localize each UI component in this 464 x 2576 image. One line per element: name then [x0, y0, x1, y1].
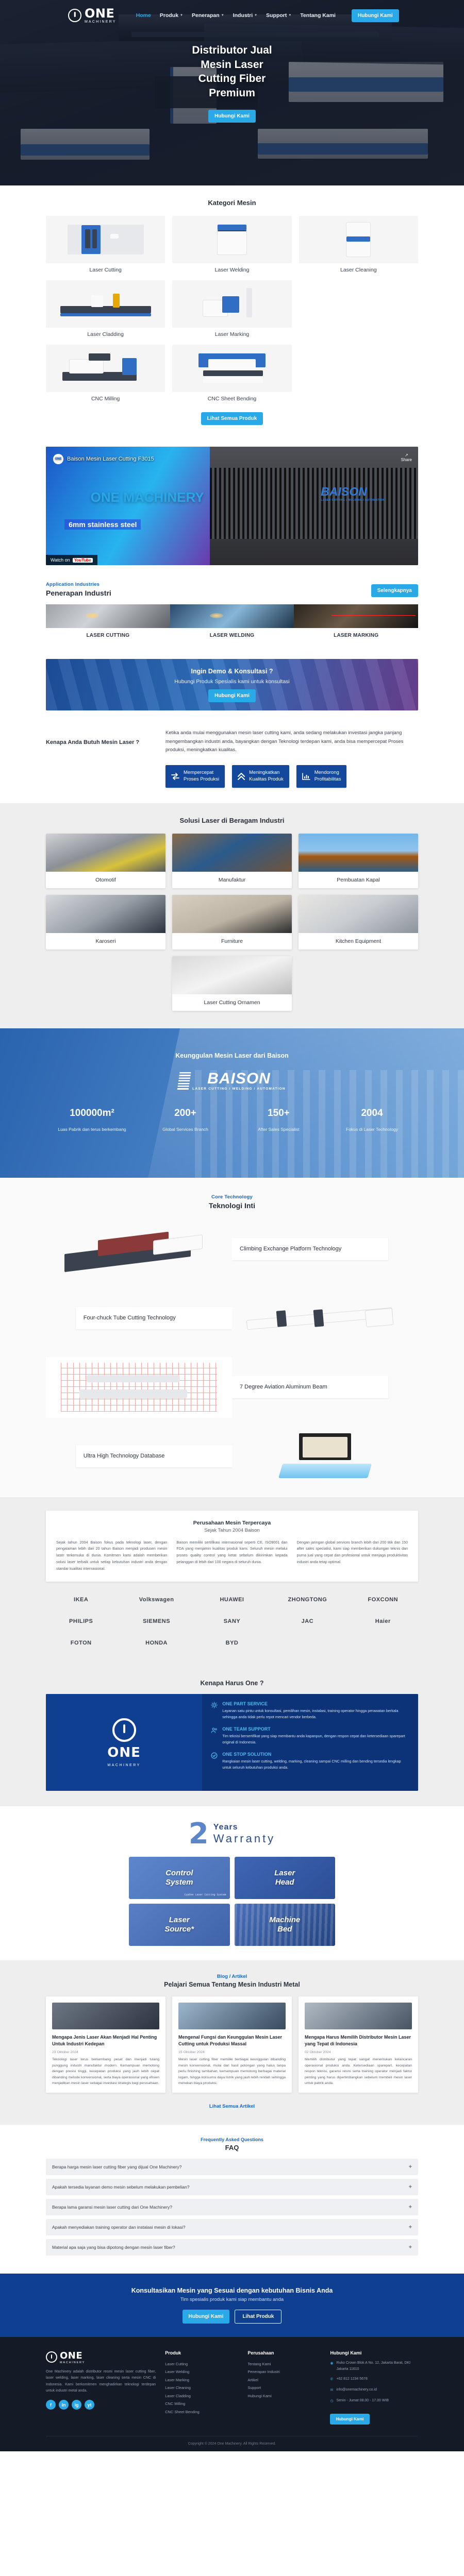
warranty-card-caption: CypOne Laser Cutting System [184, 1893, 226, 1896]
solutions-title: Solusi Laser di Beragam Industri [46, 817, 418, 824]
application-grid: LASER CUTTING LASER WELDING LASER MARKIN… [46, 604, 418, 638]
blog-image [305, 2003, 412, 2029]
category-label: Laser Welding [172, 267, 291, 273]
brand-logo: Volkswagen [121, 1593, 191, 1606]
baison-name: BAISON [192, 1072, 286, 1086]
benefit-chip[interactable]: MendorongProfitabilitas [296, 765, 347, 788]
application-card[interactable]: LASER CUTTING [46, 604, 170, 638]
tech-row: 7 Degree Aviation Aluminum Beam [46, 1357, 418, 1418]
footer-phone: +62 812 1234 5678 [336, 2376, 368, 2383]
feature-item: ONE STOP SOLUTION Rangkaian mesin laser … [210, 1752, 410, 1771]
stat-item: 100000m² Luas Pabrik dan terus berkemban… [45, 1108, 139, 1133]
facebook-icon[interactable]: f [46, 2400, 56, 2410]
site-footer: ONE MACHINERY One Machinery adalah distr… [0, 2337, 464, 2451]
feature-item: ONE TEAM SUPPORT Tim teknisi bersertifik… [210, 1726, 410, 1745]
categories-title: Kategori Mesin [46, 199, 418, 207]
video-section: ONE Baison Mesin Laser Cutting F3015 ONE… [0, 438, 464, 577]
category-image [172, 280, 291, 328]
view-all-products-button[interactable]: Lihat Semua Produk [201, 412, 263, 425]
blog-post-excerpt: Teknologi laser terus berkembang pesat d… [52, 2057, 159, 2087]
faq-item[interactable]: Berapa harga mesin laser cutting fiber y… [46, 2159, 418, 2175]
footer-link[interactable]: CNC Sheet Bending [165, 2408, 238, 2416]
footer-company-column: Perusahaan Tentang Kami Penerapan Indust… [247, 2350, 321, 2425]
main-navigation: ONE MACHINERY Home Produk▼ Penerapan▼ In… [0, 0, 464, 24]
stat-label: After Sales Specialist [232, 1126, 325, 1133]
nav-item-industri[interactable]: Industri▼ [233, 12, 257, 19]
blog-card[interactable]: Mengenal Fungsi dan Keunggulan Mesin Las… [172, 1996, 292, 2093]
feature-item: ONE PART SERVICE Layanan satu pintu untu… [210, 1701, 410, 1720]
power-button-icon [112, 1718, 136, 1742]
warranty-number: 2 [189, 1822, 209, 1846]
warranty-headline: 2 Years Warranty [0, 1822, 464, 1846]
faq-eyebrow: Frequently Asked Questions [46, 2137, 418, 2142]
site-logo[interactable]: ONE MACHINERY [68, 7, 117, 24]
application-more-button[interactable]: Selengkapnya [371, 584, 418, 597]
brand-logo: SIEMENS [121, 1615, 191, 1628]
brand-logo: HUAWEI [197, 1593, 267, 1606]
certification-section: Perusahaan Mesin Terpercaya Sejak Tahun … [0, 1497, 464, 1667]
category-image [299, 216, 418, 263]
demo-subtext: Hubungi Produk Spesialis kami untuk kons… [174, 679, 290, 685]
feature-heading: ONE PART SERVICE [222, 1701, 410, 1706]
footer-hours: Senin - Jumat 08.00 - 17.00 WIB [337, 2398, 389, 2404]
faq-item[interactable]: Apakah tersedia layanan demo mesin sebel… [46, 2179, 418, 2195]
tech-row: Four-chuck Tube Cutting Technology [46, 1288, 418, 1349]
footer-logo[interactable]: ONE MACHINERY [46, 2350, 156, 2364]
faq-question: Material apa saja yang bisa dipotong den… [52, 2245, 175, 2250]
why-one-logo-name: ONE [107, 1745, 141, 1760]
video-brand-overlay: BAISON LASER CUTTING / WELDING / AUTOMAT… [321, 485, 385, 502]
warranty-card[interactable]: LaserHead [235, 1857, 336, 1899]
stat-item: 200+ Global Services Branch [139, 1108, 232, 1133]
video-title: ONE Baison Mesin Laser Cutting F3015 [53, 454, 154, 464]
chevron-down-icon: ▼ [288, 14, 291, 17]
footer-link[interactable]: Hubungi Kami [247, 2392, 321, 2400]
solution-image [172, 834, 292, 872]
stats-row: 100000m² Luas Pabrik dan terus berkemban… [0, 1108, 464, 1133]
core-tech-eyebrow: Core Technology [46, 1194, 418, 1200]
footer-link[interactable]: Penerapan Industri [247, 2368, 321, 2376]
category-label: CNC Sheet Bending [172, 396, 291, 402]
blog-card[interactable]: Mengapa Jenis Laser Akan Menjadi Hal Pen… [46, 1996, 165, 2093]
demo-banner: Ingin Demo & Konsultasi ? Hubungi Produk… [46, 659, 418, 710]
solution-image [172, 956, 292, 994]
footer-link[interactable]: Laser Welding [165, 2368, 238, 2376]
warranty-card[interactable]: MachineBed [235, 1904, 336, 1946]
blog-eyebrow: Blog / Artikel [46, 1974, 418, 1979]
category-card[interactable]: Laser Cutting [46, 216, 165, 273]
hero-contact-button[interactable]: Hubungi Kami [208, 110, 256, 123]
logo-subtitle: MACHINERY [85, 20, 117, 24]
video-watermark: ONE MACHINERY [91, 489, 204, 505]
demo-heading: Ingin Demo & Konsultasi ? [191, 668, 273, 675]
view-all-articles-link[interactable]: Lihat Semua Artikel [209, 2104, 255, 2109]
why-one-logo-subtitle: MACHINERY [107, 1764, 140, 1767]
solution-image [299, 834, 418, 872]
core-technology-section: Core Technology Teknologi Inti Climbing … [0, 1178, 464, 1497]
why-laser-paragraph: Ketika anda mulai menggunakan mesin lase… [165, 729, 418, 755]
stat-label: Global Services Branch [139, 1126, 232, 1133]
blog-post-date: 02 Oktober 2024 [305, 2050, 412, 2054]
transfer-arrows-icon [171, 773, 179, 780]
blog-card[interactable]: Mengapa Harus Memilih Distributor Mesin … [299, 1996, 418, 2093]
solution-card[interactable]: Laser Cutting Ornamen [172, 956, 292, 1011]
solution-image [46, 895, 165, 933]
baison-tagline: LASER CUTTING / WELDING / AUTOMATION [192, 1087, 286, 1091]
solution-image [172, 895, 292, 933]
category-image [46, 280, 165, 328]
stat-value: 150+ [232, 1108, 325, 1119]
footer-column-title: Produk [165, 2350, 238, 2355]
chevron-down-icon: ▼ [180, 14, 183, 17]
footer-contact-item: ◷ Senin - Jumat 08.00 - 17.00 WIB [330, 2398, 418, 2404]
faq-question: Berapa harga mesin laser cutting fiber y… [52, 2164, 181, 2170]
faq-question: Berapa lama garansi mesin laser cutting … [52, 2205, 172, 2210]
band-heading: Keunggulan Mesin Laser dari Baison [0, 1052, 464, 1059]
clock-icon: ◷ [330, 2398, 333, 2404]
hero-title: Distributor Jual Mesin Laser Cutting Fib… [0, 43, 464, 100]
solution-label: Kitchen Equipment [299, 933, 418, 950]
footer-logo-subtitle: MACHINERY [60, 2361, 85, 2364]
solution-label: Pembuatan Kapal [299, 872, 418, 888]
application-card[interactable]: LASER MARKING [294, 604, 418, 638]
nav-item-support[interactable]: Support▼ [266, 12, 291, 19]
certification-paragraph: Baison memiliki sertifikasi internasiona… [176, 1539, 287, 1573]
certification-paragraph: Sejak tahun 2004 Baison fokus pada tekno… [56, 1539, 167, 1573]
tech-image [232, 1426, 418, 1487]
certification-heading: Perusahaan Mesin Terpercaya [56, 1520, 408, 1526]
footer-link[interactable]: CNC Milling [165, 2400, 238, 2408]
nav-item-produk[interactable]: Produk▼ [160, 12, 183, 19]
bar-chart-icon [302, 773, 310, 780]
faq-section: Frequently Asked Questions FAQ Berapa ha… [0, 2125, 464, 2274]
users-icon [210, 1726, 218, 1734]
category-card[interactable]: CNC Sheet Bending [172, 345, 291, 402]
video-player[interactable]: ONE Baison Mesin Laser Cutting F3015 ONE… [46, 447, 418, 565]
certification-subheading: Sejak Tahun 2004 Baison [56, 1528, 408, 1533]
youtube-icon: YouTube [73, 558, 93, 563]
application-industries-section: Application Industries Penerapan Industr… [0, 577, 464, 652]
application-image [46, 604, 170, 628]
share-button[interactable]: ↗ Share [401, 453, 412, 462]
stat-label: Fokus di Laser Technology [325, 1126, 419, 1133]
blog-post-date: 23 Oktober 2024 [52, 2050, 159, 2054]
stat-label: Luas Pabrik dan terus berkembang [45, 1126, 139, 1133]
footer-contact-item[interactable]: ✆ +62 812 1234 5678 [330, 2376, 418, 2383]
footer-column-title: Hubungi Kami [330, 2350, 418, 2355]
stat-item: 2004 Fokus di Laser Technology [325, 1108, 419, 1133]
plus-icon: + [409, 2244, 412, 2250]
category-card[interactable]: Laser Welding [172, 216, 291, 273]
feature-text: Rangkaian mesin laser cutting, welding, … [222, 1758, 410, 1771]
certification-card: Perusahaan Mesin Terpercaya Sejak Tahun … [46, 1511, 418, 1582]
logo-name: ONE [85, 7, 117, 20]
solution-label: Furniture [172, 933, 292, 950]
blog-post-title: Mengenal Fungsi dan Keunggulan Mesin Las… [178, 2034, 286, 2047]
category-image [46, 216, 165, 263]
brand-logo: Haier [348, 1615, 418, 1628]
footer-email: info@onemachinery.co.id [336, 2387, 377, 2394]
footer-link[interactable]: Laser Marking [165, 2376, 238, 2384]
bottom-cta-subtext: Tim spesialis produk kami siap membantu … [46, 2297, 418, 2302]
benefit-chips: MempercepatProses Produksi MeningkatkanK… [165, 765, 418, 788]
blog-section: Blog / Artikel Pelajari Semua Tentang Me… [0, 1960, 464, 2125]
category-card[interactable]: CNC Milling [46, 345, 165, 402]
category-card[interactable]: Laser Marking [172, 280, 291, 337]
power-button-icon [46, 2351, 57, 2363]
hero-content: Distributor Jual Mesin Laser Cutting Fib… [0, 24, 464, 123]
video-spikes-detail [210, 468, 418, 539]
footer-link[interactable]: Laser Cladding [165, 2392, 238, 2400]
application-image [170, 604, 294, 628]
solution-card[interactable]: Kitchen Equipment [299, 895, 418, 950]
footer-link[interactable]: Laser Cleaning [165, 2384, 238, 2392]
solution-image [46, 834, 165, 872]
blog-image [52, 2003, 159, 2029]
faq-title: FAQ [46, 2144, 418, 2151]
application-label: LASER WELDING [170, 633, 294, 638]
client-logos-grid: IKEA Volkswagen HUAWEI ZHONGTONG FOXCONN… [46, 1582, 418, 1653]
faq-item[interactable]: Berapa lama garansi mesin laser cutting … [46, 2199, 418, 2215]
faq-item[interactable]: Material apa saja yang bisa dipotong den… [46, 2239, 418, 2256]
nav-contact-button[interactable]: Hubungi Kami [352, 9, 399, 22]
brand-logo: FOTON [46, 1636, 116, 1650]
bottom-cta-secondary-button[interactable]: Lihat Produk [235, 2310, 281, 2324]
footer-contact-button[interactable]: Hubungi Kami [330, 2414, 369, 2425]
youtube-icon[interactable]: yt [85, 2400, 94, 2410]
blog-title: Pelajari Semua Tentang Mesin Industri Me… [46, 1981, 418, 1988]
mail-icon: ✉ [330, 2387, 333, 2394]
footer-address: Ruko Crown Blok A No. 12, Jakarta Barat,… [337, 2360, 418, 2372]
benefit-chip[interactable]: MeningkatkanKualitas Produk [232, 765, 289, 788]
brand-logo: JAC [272, 1615, 342, 1628]
video-caption: 6mm stainless steel [64, 519, 141, 530]
blog-image [178, 2003, 286, 2029]
blog-post-excerpt: Mesin laser cutting fiber memiliki berba… [178, 2057, 286, 2087]
faq-question: Apakah tersedia layanan demo mesin sebel… [52, 2184, 190, 2190]
category-label: Laser Marking [172, 331, 291, 337]
stat-value: 2004 [325, 1108, 419, 1119]
footer-contact-column: Hubungi Kami ◉ Ruko Crown Blok A No. 12,… [330, 2350, 418, 2425]
stat-value: 200+ [139, 1108, 232, 1119]
feature-text: Tim teknisi bersertifikat yang siap memb… [222, 1733, 410, 1745]
industry-solutions-section: Solusi Laser di Beragam Industri Otomoti… [0, 803, 464, 1028]
footer-link[interactable]: Artikel [247, 2376, 321, 2384]
phone-icon: ✆ [330, 2377, 333, 2383]
application-label: LASER MARKING [294, 633, 418, 638]
feature-text: Layanan satu pintu untuk konsultasi, pem… [222, 1708, 410, 1720]
blog-post-date: 15 Oktober 2024 [178, 2050, 286, 2054]
category-label: CNC Milling [46, 396, 165, 402]
solution-label: Laser Cutting Ornamen [172, 994, 292, 1011]
watch-on-youtube-button[interactable]: Watch onYouTube [46, 555, 97, 565]
warranty-card[interactable]: LaserSource* [129, 1904, 230, 1946]
tech-row: Ultra High Technology Database [46, 1426, 418, 1487]
share-icon: ↗ [401, 453, 412, 457]
why-one-title: Kenapa Harus One ? [46, 1680, 418, 1687]
gear-icon [210, 1701, 218, 1709]
footer-link[interactable]: Support [247, 2384, 321, 2392]
warranty-cards: ControlSystem CypOne Laser Cutting Syste… [129, 1857, 335, 1946]
machine-categories-section: Kategori Mesin Laser Cutting [0, 185, 464, 438]
why-laser-heading: Kenapa Anda Butuh Mesin Laser ? [46, 729, 154, 747]
video-left-frame [46, 447, 210, 565]
warranty-section: 2 Years Warranty ControlSystem CypOne La… [0, 1806, 464, 1960]
demo-contact-button[interactable]: Hubungi Kami [208, 689, 256, 702]
tech-image [46, 1219, 232, 1280]
category-label: Laser Cladding [46, 331, 165, 337]
category-label: Laser Cutting [46, 267, 165, 273]
footer-contact-item: ◉ Ruko Crown Blok A No. 12, Jakarta Bara… [330, 2360, 418, 2372]
instagram-icon[interactable]: ig [72, 2400, 81, 2410]
why-one-section: Kenapa Harus One ? ONE MACHINERY ONE PAR… [0, 1666, 464, 1806]
plus-icon: + [409, 2184, 412, 2190]
brand-logo: IKEA [46, 1593, 116, 1606]
bottom-cta-heading: Konsultasikan Mesin yang Sesuai dengan k… [46, 2287, 418, 2294]
tech-label: Four-chuck Tube Cutting Technology [76, 1307, 232, 1329]
blog-post-excerpt: Memilih distributor yang tepat sangat me… [305, 2057, 412, 2087]
application-image [294, 604, 418, 628]
feature-heading: ONE STOP SOLUTION [222, 1752, 410, 1757]
tech-label: Climbing Exchange Platform Technology [232, 1238, 388, 1260]
feature-heading: ONE TEAM SUPPORT [222, 1726, 410, 1732]
category-image [172, 216, 291, 263]
faq-item[interactable]: Apakah menyediakan training operator dan… [46, 2219, 418, 2235]
nav-links: Home Produk▼ Penerapan▼ Industri▼ Suppor… [136, 9, 399, 22]
solution-label: Manufaktur [172, 872, 292, 888]
why-one-logo: ONE MACHINERY [46, 1694, 202, 1791]
bottom-cta-primary-button[interactable]: Hubungi Kami [183, 2310, 230, 2324]
faq-list: Berapa harga mesin laser cutting fiber y… [46, 2159, 418, 2256]
solution-label: Otomotif [46, 872, 165, 888]
solution-card[interactable]: Otomotif [46, 834, 165, 888]
why-laser-section: Kenapa Anda Butuh Mesin Laser ? Ketika a… [0, 724, 464, 803]
category-card[interactable]: Laser Cladding [46, 280, 165, 337]
location-icon: ◉ [330, 2361, 333, 2372]
categories-grid: Laser Cutting Laser Welding Laser C [46, 216, 418, 402]
tech-image [46, 1357, 232, 1418]
faq-question: Apakah menyediakan training operator dan… [52, 2225, 185, 2230]
solution-card[interactable]: Manufaktur [172, 834, 292, 888]
warranty-years: Years [213, 1823, 275, 1832]
solutions-grid: Otomotif Manufaktur Pembuatan Kapal Karo… [46, 834, 418, 950]
footer-link[interactable]: Tentang Kami [247, 2360, 321, 2368]
solution-label: Karoseri [46, 933, 165, 950]
category-image [172, 345, 291, 392]
footer-column-title: Perusahaan [247, 2350, 321, 2355]
baison-logo: BAISON LASER CUTTING / WELDING / AUTOMAT… [178, 1072, 286, 1091]
linkedin-icon[interactable]: in [59, 2400, 69, 2410]
footer-about: ONE MACHINERY One Machinery adalah distr… [46, 2350, 156, 2425]
brand-logo: FOXCONN [348, 1593, 418, 1606]
stat-value: 100000m² [45, 1108, 139, 1119]
nav-item-home[interactable]: Home [136, 12, 151, 19]
warranty-word: Warranty [213, 1832, 275, 1845]
category-card[interactable]: Laser Cleaning [299, 216, 418, 273]
application-card[interactable]: LASER WELDING [170, 604, 294, 638]
solution-image [299, 895, 418, 933]
tech-row: Climbing Exchange Platform Technology [46, 1219, 418, 1280]
brand-logo: PHILIPS [46, 1615, 116, 1628]
check-icon [210, 1752, 218, 1759]
footer-contact-item[interactable]: ✉ info@onemachinery.co.id [330, 2387, 418, 2394]
nav-item-penerapan[interactable]: Penerapan▼ [192, 12, 224, 19]
chevron-down-icon: ▼ [254, 14, 257, 17]
bottom-cta-section: Konsultasikan Mesin yang Sesuai dengan k… [0, 2274, 464, 2337]
blog-grid: Mengapa Jenis Laser Akan Menjadi Hal Pen… [46, 1996, 418, 2093]
solution-card[interactable]: Pembuatan Kapal [299, 834, 418, 888]
certification-paragraph: Dengan jaringan global services branch l… [297, 1539, 408, 1573]
plus-icon: + [409, 2164, 412, 2170]
warranty-card[interactable]: ControlSystem CypOne Laser Cutting Syste… [129, 1857, 230, 1899]
chevron-down-icon: ▼ [221, 14, 224, 17]
baison-advantages-band: Keunggulan Mesin Laser dari Baison BAISO… [0, 1028, 464, 1178]
application-eyebrow: Application Industries [46, 582, 111, 587]
tech-image [232, 1288, 418, 1349]
category-image [46, 345, 165, 392]
chevrons-up-icon [238, 772, 245, 781]
power-button-icon [68, 9, 81, 22]
footer-products-column: Produk Laser Cutting Laser Welding Laser… [165, 2350, 238, 2425]
solution-card[interactable]: Karoseri [46, 895, 165, 950]
footer-copyright: Copyright © 2024 One Machinery. All Righ… [46, 2436, 418, 2451]
blog-post-title: Mengapa Harus Memilih Distributor Mesin … [305, 2034, 412, 2047]
nav-item-tentang-kami[interactable]: Tentang Kami [300, 12, 336, 19]
category-label: Laser Cleaning [299, 267, 418, 273]
hero-section: ONE MACHINERY Home Produk▼ Penerapan▼ In… [0, 0, 464, 185]
why-one-box: ONE MACHINERY ONE PART SERVICE Layanan s… [46, 1694, 418, 1791]
plus-icon: + [409, 2204, 412, 2210]
solution-card[interactable]: Furniture [172, 895, 292, 950]
footer-socials: f in ig yt [46, 2400, 156, 2410]
brand-logo: BYD [197, 1636, 267, 1650]
channel-avatar-icon: ONE [53, 454, 63, 464]
application-title: Penerapan Industri [46, 589, 111, 597]
why-one-features: ONE PART SERVICE Layanan satu pintu untu… [202, 1694, 418, 1791]
core-tech-title: Teknologi Inti [46, 1201, 418, 1210]
baison-bars-icon [177, 1072, 191, 1091]
footer-logo-name: ONE [60, 2350, 85, 2361]
application-label: LASER CUTTING [46, 633, 170, 638]
brand-logo: SANY [197, 1615, 267, 1628]
footer-link[interactable]: Laser Cutting [165, 2360, 238, 2368]
footer-about-text: One Machinery adalah distributor resmi m… [46, 2369, 156, 2395]
tech-label: 7 Degree Aviation Aluminum Beam [232, 1376, 388, 1398]
brand-logo: ZHONGTONG [272, 1593, 342, 1606]
plus-icon: + [409, 2224, 412, 2230]
stat-item: 150+ After Sales Specialist [232, 1108, 325, 1133]
tech-label: Ultra High Technology Database [76, 1445, 232, 1467]
brand-logo: HONDA [121, 1636, 191, 1650]
blog-post-title: Mengapa Jenis Laser Akan Menjadi Hal Pen… [52, 2034, 159, 2047]
demo-consultation-section: Ingin Demo & Konsultasi ? Hubungi Produk… [0, 652, 464, 724]
benefit-chip[interactable]: MempercepatProses Produksi [165, 765, 225, 788]
